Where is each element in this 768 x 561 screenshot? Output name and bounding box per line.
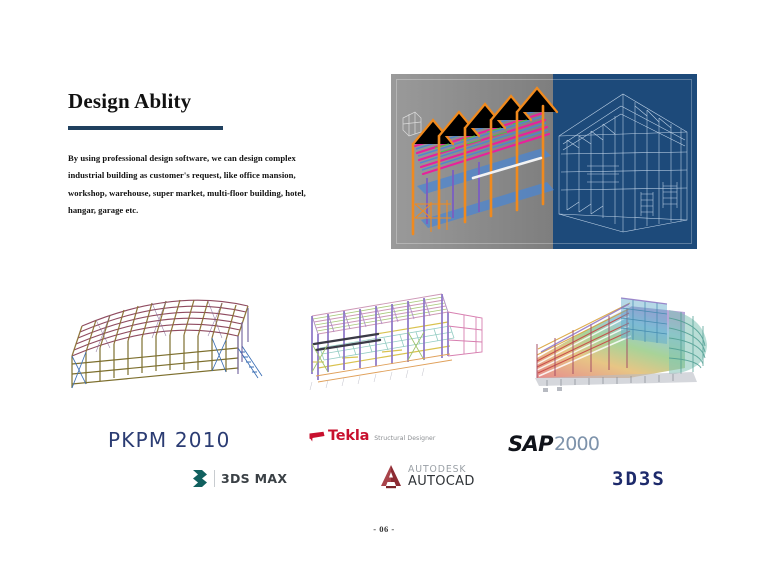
body-copy: By using professional design software, w… — [68, 150, 330, 219]
bim-render-vector — [391, 74, 697, 249]
analysis-model-vector — [517, 282, 723, 400]
autocad-product-text: AUTOCAD — [408, 475, 475, 488]
3d3s-logo: 3D3S — [612, 468, 666, 490]
body-line-1: By using professional design software, w… — [68, 150, 330, 167]
autocad-logo: AUTODESK AUTOCAD — [380, 464, 475, 489]
model-thumbnail-row — [0, 282, 768, 402]
3d3s-logo-text: 3D3S — [612, 468, 666, 490]
3ds-max-mark-icon — [192, 469, 209, 488]
tekla-logo: Tekla Structural Designer — [309, 428, 436, 444]
tekla-swoosh-icon — [309, 431, 325, 443]
multistory-steel-frame-image — [282, 282, 500, 400]
title-underline-rule — [68, 126, 223, 130]
heading-block: Design Ablity By using professional desi… — [68, 90, 368, 220]
bim-structural-model-image — [391, 74, 697, 249]
pkpm-logo: PKPM 2010 — [108, 428, 231, 452]
3ds-max-logo-text: 3DS MAX — [221, 471, 287, 486]
multistory-frame-vector — [282, 282, 500, 400]
sap2000-logo: SAP 2000 — [508, 432, 599, 456]
page-title: Design Ablity — [68, 90, 368, 113]
autodesk-a-icon — [380, 464, 402, 489]
warehouse-frame-vector — [52, 282, 264, 400]
multistory-analysis-model-image — [517, 282, 723, 400]
tekla-logo-text: Tekla — [328, 428, 369, 444]
software-logo-band: PKPM 2010 3DS MAX Tekla Structural Desig… — [0, 420, 768, 510]
body-line-3: workshop, warehouse, super market, multi… — [68, 185, 330, 202]
3ds-max-logo: 3DS MAX — [192, 469, 287, 488]
logo-divider — [214, 470, 215, 487]
tekla-logo-subtitle: Structural Designer — [374, 435, 435, 442]
warehouse-steel-frame-image — [52, 282, 264, 400]
page-number-footer: - 06 - — [0, 524, 768, 534]
sap-logo-text: SAP — [508, 432, 553, 456]
body-line-4: hangar, garage etc. — [68, 202, 330, 219]
sap-logo-suffix: 2000 — [554, 433, 599, 455]
autocad-wordmark: AUTODESK AUTOCAD — [408, 465, 475, 488]
slide-canvas: Design Ablity By using professional desi… — [0, 0, 768, 561]
body-line-2: industrial building as customer's reques… — [68, 167, 330, 184]
pkpm-logo-text: PKPM 2010 — [108, 428, 231, 452]
